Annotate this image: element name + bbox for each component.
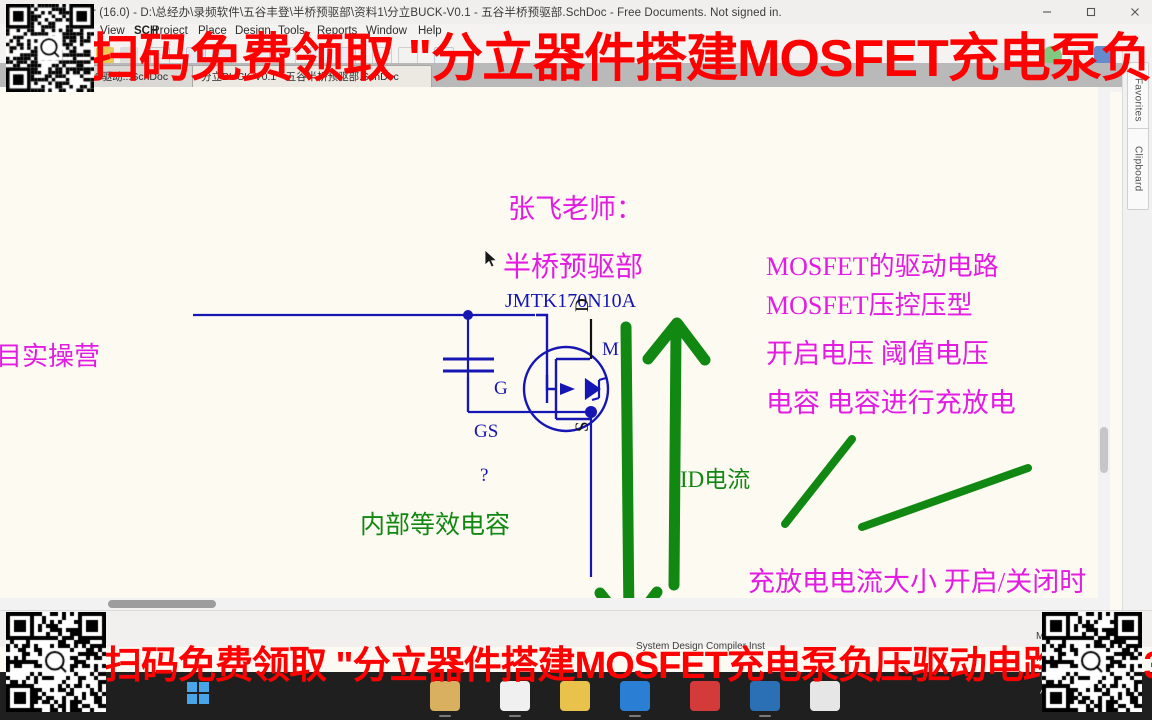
schematic-drawing: JMTK170N10A D M G S GS ? ID电流 内部等效电容 张飞老…: [0, 87, 1110, 598]
annotation-teacher-name: 张飞老师：: [508, 187, 643, 226]
pin-label-source: S: [572, 421, 594, 432]
annotation-mosfet-drive-circuit: MOSFET的驱动电路: [766, 246, 999, 283]
annotation-halfbridge-predriver: 半桥预驱部: [503, 245, 643, 285]
canvas-vertical-scrollbar[interactable]: [1098, 87, 1110, 610]
taskbar-indicator-3: [629, 715, 641, 717]
qr-code-bottom-right: [1042, 612, 1142, 712]
mosfet-symbol-internals: [536, 315, 590, 419]
panel-tab-clipboard[interactable]: Clipboard: [1127, 128, 1149, 210]
taskbar-indicator-2: [509, 715, 521, 717]
mosfet-body-diode: [586, 378, 606, 400]
annotation-project-camp: 目实操营: [0, 336, 100, 373]
annotation-green-internal-cap: 内部等效电容: [360, 505, 510, 541]
green-line-shallow: [862, 468, 1028, 527]
capacitor-designator: GS: [474, 421, 498, 443]
pin-label-gate: G: [494, 378, 508, 400]
designator-label: M: [602, 339, 619, 361]
qr-code-bottom-left: [6, 612, 106, 712]
green-arrow-down: [600, 327, 657, 598]
taskbar-indicator-4: [759, 715, 771, 717]
capacitor-value: ?: [480, 465, 488, 487]
green-line-steep: [785, 439, 852, 524]
promo-banner-bottom: 扫码免费领取 "分立器件搭建MOSFET充电泵负压驱动电路设计 30集完整视频": [104, 634, 1152, 689]
pin-label-drain: D: [572, 298, 594, 312]
schematic-canvas[interactable]: JMTK170N10A D M G S GS ? ID电流 内部等效电容 张飞老…: [0, 87, 1110, 610]
annotation-threshold-voltage: 开启电压 阈值电压: [766, 332, 989, 371]
mosfet-channel-arrow: [560, 383, 575, 395]
annotation-charge-current-magnitude: 充放电电流大小 开启/关闭时: [748, 560, 1086, 599]
annotation-green-id-current: ID电流: [680, 460, 750, 494]
qr-code-top-left: [6, 4, 94, 92]
canvas-horizontal-scroll-thumb[interactable]: [108, 600, 216, 608]
canvas-horizontal-scrollbar[interactable]: [0, 598, 1110, 610]
annotation-mosfet-voltage-controlled: MOSFET压控压型: [766, 285, 973, 322]
annotation-capacitor-charge-discharge: 电容 电容进行充放电: [766, 381, 1016, 420]
junction-dot-gate: [463, 310, 473, 320]
taskbar-indicator-1: [439, 715, 451, 717]
canvas-vertical-scroll-thumb[interactable]: [1100, 427, 1108, 473]
green-arrow-up: [648, 323, 705, 585]
right-panel-strip: Favorites Clipboard: [1122, 48, 1152, 633]
promo-banner-top: 扫码免费领取 "分立器件搭建MOSFET充电泵负压驱动电路设计 30集完整视频": [88, 16, 1152, 91]
part-number-label: JMTK170N10A: [505, 290, 636, 313]
